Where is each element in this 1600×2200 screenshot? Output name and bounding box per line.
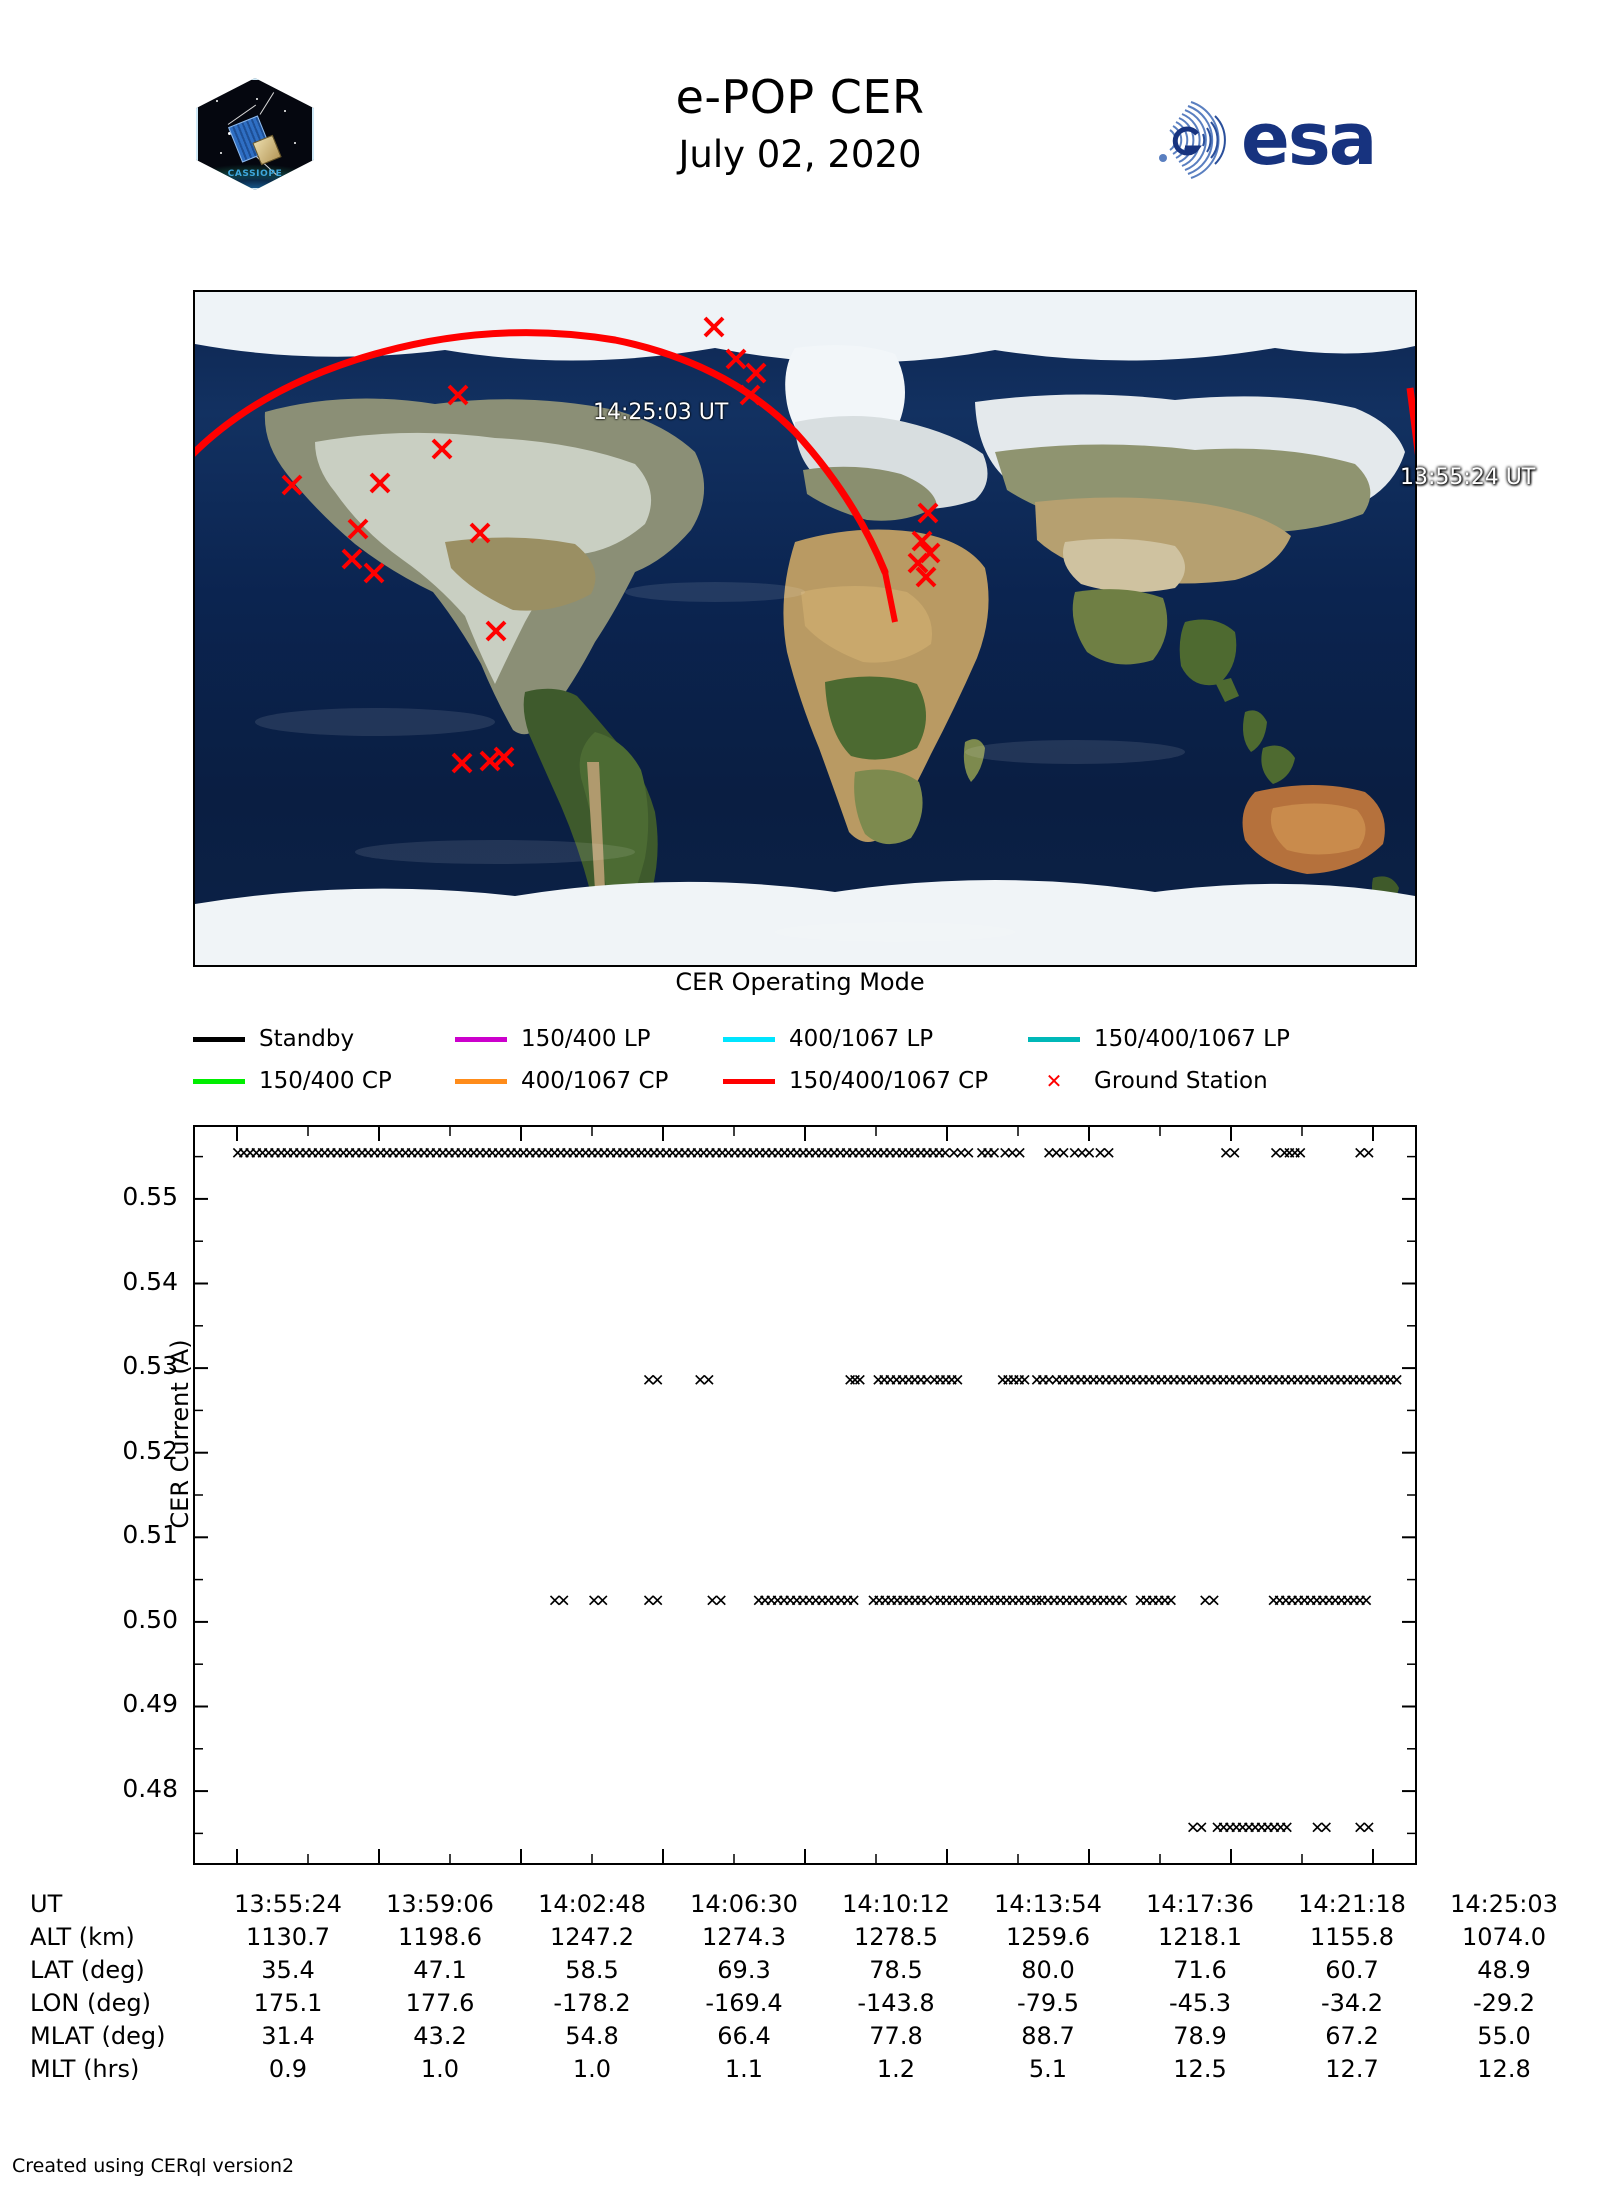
- table-cell: 13:59:06: [365, 1890, 515, 1918]
- y-tick-label: 0.49: [58, 1691, 178, 1716]
- table-cell: 14:06:30: [669, 1890, 819, 1918]
- data-point-marker: ✕: [847, 1592, 861, 1612]
- footer-credit: Created using CERql version2: [12, 2155, 294, 2177]
- table-cell: 14:10:12: [821, 1890, 971, 1918]
- table-cell: 58.5: [517, 1956, 667, 1984]
- table-cell: 71.6: [1125, 1956, 1275, 1984]
- table-cell: 77.8: [821, 2022, 971, 2050]
- map-canvas: [195, 292, 1415, 965]
- data-point-marker: ✕: [650, 1592, 664, 1612]
- data-point-marker: ✕: [595, 1592, 609, 1612]
- table-cell: 177.6: [365, 1989, 515, 2017]
- y-tick-label: 0.52: [58, 1438, 178, 1463]
- table-row: UT13:55:2413:59:0614:02:4814:06:3014:10:…: [30, 1890, 1570, 1923]
- table-cell: 14:25:03: [1429, 1890, 1579, 1918]
- legend-item-ground-station[interactable]: ✕ Ground Station: [1028, 1062, 1268, 1100]
- table-cell: 66.4: [669, 2022, 819, 2050]
- table-cell: 43.2: [365, 2022, 515, 2050]
- table-cell: -45.3: [1125, 1989, 1275, 2017]
- data-point-marker: ✕: [1115, 1592, 1129, 1612]
- legend-item-150-400-1067-cp[interactable]: 150/400/1067 CP: [723, 1062, 988, 1100]
- table-cell: 78.9: [1125, 2022, 1275, 2050]
- table-cell: 1.2: [821, 2055, 971, 2083]
- table-cell: 1278.5: [821, 1923, 971, 1951]
- data-point-marker: ✕: [1390, 1371, 1404, 1391]
- data-point-marker: ✕: [1359, 1592, 1373, 1612]
- legend-item-150-400-1067-lp[interactable]: 150/400/1067 LP: [1028, 1020, 1290, 1058]
- data-point-marker: ✕: [950, 1371, 964, 1391]
- page-root: CASSIOPE e-POP CER July 02, 2020: [0, 0, 1600, 2200]
- legend-swatch-150-400-lp: [455, 1037, 507, 1042]
- table-cell: 54.8: [517, 2022, 667, 2050]
- table-row-label: MLT (hrs): [30, 2055, 230, 2083]
- data-point-marker: ✕: [714, 1592, 728, 1612]
- legend-label-150-400-cp: 150/400 CP: [259, 1068, 392, 1094]
- data-point-marker: ✕: [1102, 1144, 1116, 1164]
- table-cell: 88.7: [973, 2022, 1123, 2050]
- table-row: MLAT (deg)31.443.254.866.477.888.778.967…: [30, 2022, 1570, 2055]
- y-tick-label: 0.54: [58, 1269, 178, 1294]
- legend-swatch-400-1067-lp: [723, 1037, 775, 1042]
- table-cell: 31.4: [213, 2022, 363, 2050]
- data-point-marker: ✕: [1280, 1818, 1294, 1838]
- data-point-marker: ✕: [1164, 1592, 1178, 1612]
- table-cell: 14:13:54: [973, 1890, 1123, 1918]
- table-row-label: LAT (deg): [30, 1956, 230, 1984]
- legend-label-ground-station: Ground Station: [1094, 1068, 1268, 1094]
- data-point-marker: ✕: [556, 1592, 570, 1612]
- legend-row-1: Standby 150/400 LP 400/1067 LP 150/400/1…: [193, 1020, 1423, 1058]
- data-points: ✕✕✕✕✕✕✕✕✕✕✕✕✕✕✕✕✕✕✕✕✕✕✕✕✕✕✕✕✕✕✕✕✕✕✕✕✕✕✕✕…: [231, 1144, 1404, 1838]
- table-cell: 1259.6: [973, 1923, 1123, 1951]
- y-tick-label: 0.50: [58, 1607, 178, 1632]
- table-cell: 1198.6: [365, 1923, 515, 1951]
- table-cell: 0.9: [213, 2055, 363, 2083]
- table-row: LON (deg)175.1177.6-178.2-169.4-143.8-79…: [30, 1989, 1570, 2022]
- data-point-marker: ✕: [1362, 1818, 1376, 1838]
- legend-label-150-400-lp: 150/400 LP: [521, 1026, 651, 1052]
- table-cell: 48.9: [1429, 1956, 1579, 1984]
- legend-item-150-400-lp[interactable]: 150/400 LP: [455, 1020, 651, 1058]
- data-point-marker: ✕: [1362, 1144, 1376, 1164]
- table-cell: -79.5: [973, 1989, 1123, 2017]
- cer-current-plot[interactable]: ✕✕✕✕✕✕✕✕✕✕✕✕✕✕✕✕✕✕✕✕✕✕✕✕✕✕✕✕✕✕✕✕✕✕✕✕✕✕✕✕…: [193, 1125, 1417, 1865]
- table-cell: 1247.2: [517, 1923, 667, 1951]
- esa-wordmark: esa: [1241, 100, 1375, 178]
- legend-swatch-standby: [193, 1037, 245, 1042]
- legend-label-standby: Standby: [259, 1026, 354, 1052]
- table-row-label: LON (deg): [30, 1989, 230, 2017]
- y-tick-label: 0.55: [58, 1184, 178, 1209]
- table-cell: 175.1: [213, 1989, 363, 2017]
- data-point-marker: ✕: [1207, 1592, 1221, 1612]
- y-tick-label: 0.48: [58, 1776, 178, 1801]
- legend-item-standby[interactable]: Standby: [193, 1020, 354, 1058]
- header: CASSIOPE e-POP CER July 02, 2020: [0, 0, 1600, 200]
- table-cell: 1218.1: [1125, 1923, 1275, 1951]
- table-cell: 12.7: [1277, 2055, 1427, 2083]
- table-cell: 1274.3: [669, 1923, 819, 1951]
- legend-item-400-1067-cp[interactable]: 400/1067 CP: [455, 1062, 668, 1100]
- table-row-label: MLAT (deg): [30, 2022, 230, 2050]
- legend-label-150-400-1067-lp: 150/400/1067 LP: [1094, 1026, 1290, 1052]
- table-cell: 78.5: [821, 1956, 971, 1984]
- table-cell: 1074.0: [1429, 1923, 1579, 1951]
- legend-label-400-1067-cp: 400/1067 CP: [521, 1068, 668, 1094]
- table-cell: 13:55:24: [213, 1890, 363, 1918]
- legend-title: CER Operating Mode: [0, 968, 1600, 996]
- table-cell: -34.2: [1277, 1989, 1427, 2017]
- esa-emblem-icon: [1145, 96, 1237, 184]
- legend-item-400-1067-lp[interactable]: 400/1067 LP: [723, 1020, 933, 1058]
- table-cell: 55.0: [1429, 2022, 1579, 2050]
- ephemeris-table: UT13:55:2413:59:0614:02:4814:06:3014:10:…: [30, 1890, 1570, 2088]
- legend: Standby 150/400 LP 400/1067 LP 150/400/1…: [193, 1020, 1423, 1100]
- map-time-label-end: 14:25:03 UT: [593, 400, 728, 425]
- table-cell: 14:21:18: [1277, 1890, 1427, 1918]
- table-cell: 67.2: [1277, 2022, 1427, 2050]
- table-cell: -169.4: [669, 1989, 819, 2017]
- table-row: LAT (deg)35.447.158.569.378.580.071.660.…: [30, 1956, 1570, 1989]
- legend-label-150-400-1067-cp: 150/400/1067 CP: [789, 1068, 988, 1094]
- table-cell: 60.7: [1277, 1956, 1427, 1984]
- y-tick-label: 0.53: [58, 1353, 178, 1378]
- legend-item-150-400-cp[interactable]: 150/400 CP: [193, 1062, 392, 1100]
- table-cell: 80.0: [973, 1956, 1123, 1984]
- data-point-marker: ✕: [853, 1371, 867, 1391]
- table-row-label: UT: [30, 1890, 230, 1918]
- table-row: ALT (km)1130.71198.61247.21274.31278.512…: [30, 1923, 1570, 1956]
- table-row: MLT (hrs)0.91.01.01.11.25.112.512.712.8: [30, 2055, 1570, 2088]
- table-cell: 35.4: [213, 1956, 363, 1984]
- data-point-marker: ✕: [1194, 1818, 1208, 1838]
- table-cell: 47.1: [365, 1956, 515, 1984]
- table-cell: 14:17:36: [1125, 1890, 1275, 1918]
- table-cell: 1.0: [517, 2055, 667, 2083]
- table-cell: -143.8: [821, 1989, 971, 2017]
- table-cell: 69.3: [669, 1956, 819, 1984]
- plot-canvas: ✕✕✕✕✕✕✕✕✕✕✕✕✕✕✕✕✕✕✕✕✕✕✕✕✕✕✕✕✕✕✕✕✕✕✕✕✕✕✕✕…: [195, 1127, 1415, 1863]
- table-row-label: ALT (km): [30, 1923, 230, 1951]
- data-point-marker: ✕: [1227, 1144, 1241, 1164]
- table-cell: 5.1: [973, 2055, 1123, 2083]
- table-cell: 12.8: [1429, 2055, 1579, 2083]
- data-point-marker: ✕: [650, 1371, 664, 1391]
- data-point-marker: ✕: [1013, 1144, 1027, 1164]
- table-cell: 14:02:48: [517, 1890, 667, 1918]
- table-cell: 1.0: [365, 2055, 515, 2083]
- map-time-label-start: 13:55:24 UT: [1400, 465, 1535, 490]
- ground-station-marker-icon: ✕: [1028, 1071, 1080, 1091]
- data-point-marker: ✕: [1319, 1818, 1333, 1838]
- legend-swatch-400-1067-cp: [455, 1079, 507, 1084]
- table-cell: 12.5: [1125, 2055, 1275, 2083]
- legend-row-2: 150/400 CP 400/1067 CP 150/400/1067 CP ✕…: [193, 1062, 1423, 1100]
- table-cell: 1130.7: [213, 1923, 363, 1951]
- world-map[interactable]: 14:25:03 UT: [193, 290, 1417, 967]
- data-point-marker: ✕: [1293, 1144, 1307, 1164]
- data-point-marker: ✕: [701, 1371, 715, 1391]
- table-cell: 1155.8: [1277, 1923, 1427, 1951]
- legend-swatch-150-400-1067-cp: [723, 1079, 775, 1084]
- y-tick-label: 0.51: [58, 1522, 178, 1547]
- table-cell: -178.2: [517, 1989, 667, 2017]
- data-point-marker: ✕: [961, 1144, 975, 1164]
- table-cell: -29.2: [1429, 1989, 1579, 2017]
- legend-swatch-150-400-cp: [193, 1079, 245, 1084]
- table-cell: 1.1: [669, 2055, 819, 2083]
- esa-logo: esa: [1145, 96, 1445, 184]
- legend-label-400-1067-lp: 400/1067 LP: [789, 1026, 933, 1052]
- legend-swatch-150-400-1067-lp: [1028, 1037, 1080, 1042]
